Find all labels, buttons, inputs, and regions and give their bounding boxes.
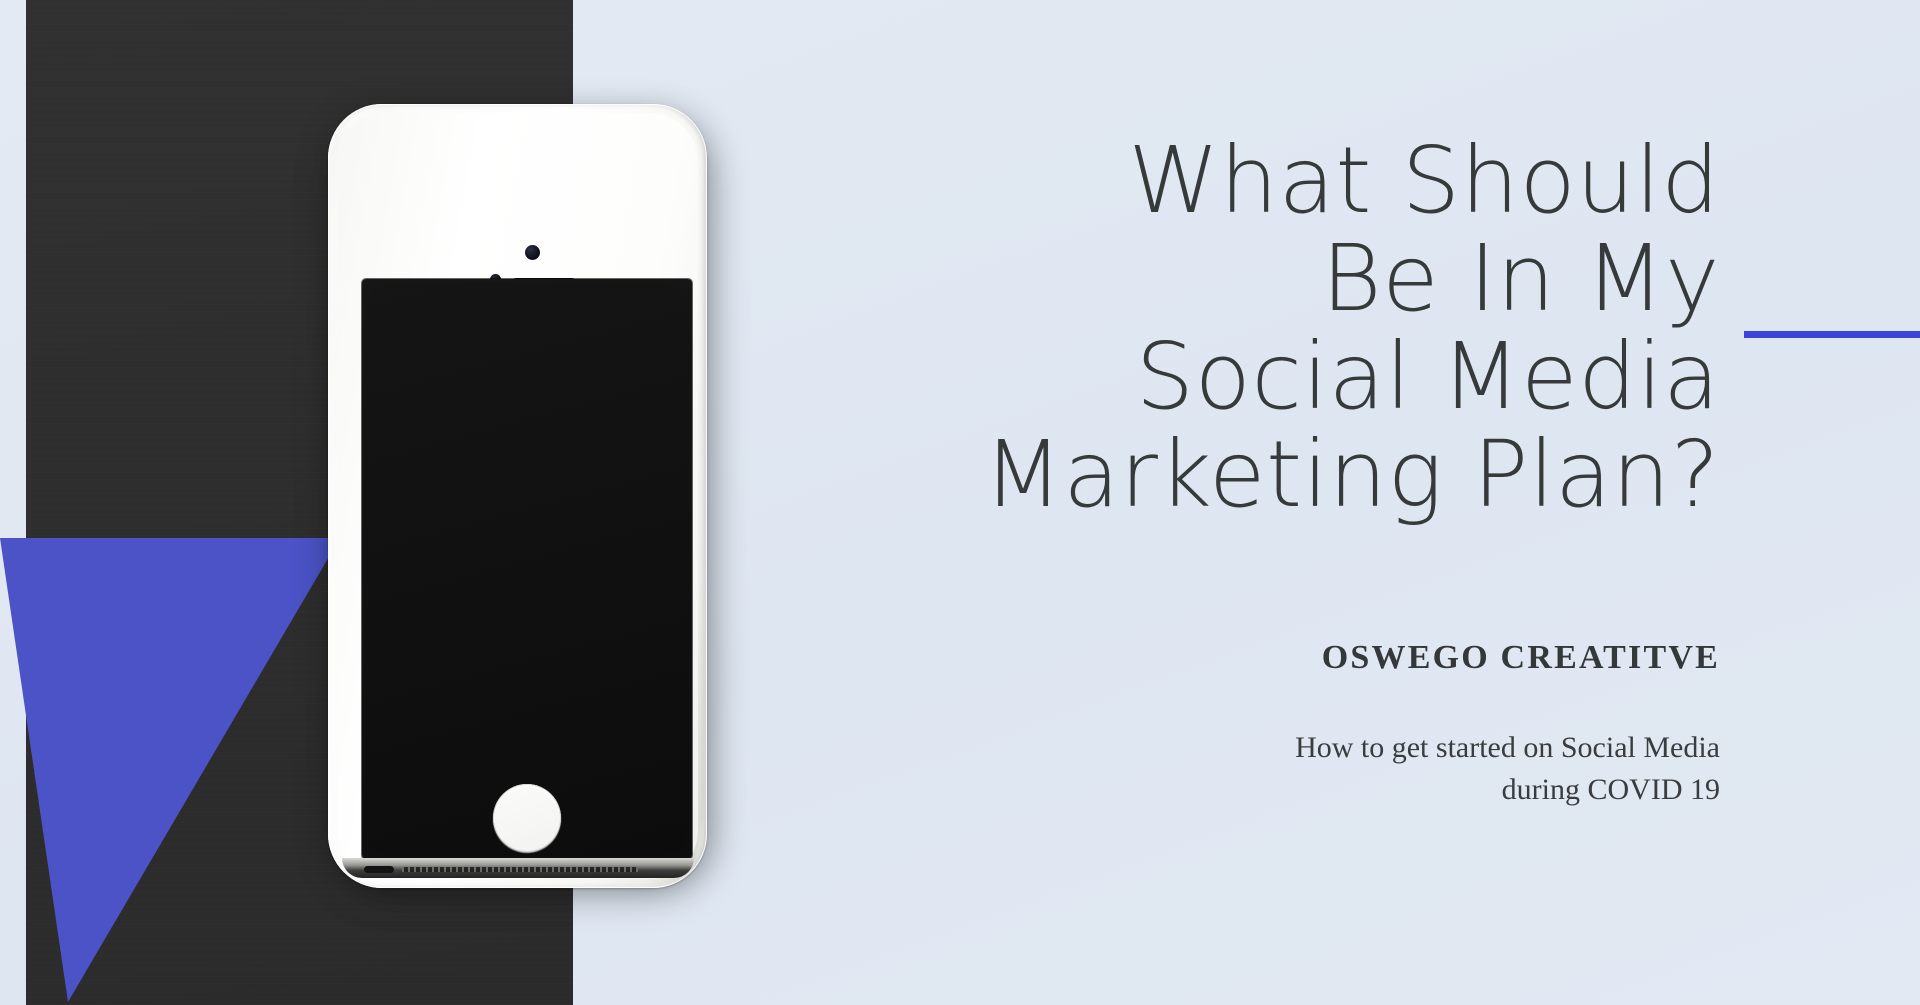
blue-down-triangle-icon [0,538,340,1005]
slide-headline: What Should Be In My Social Media Market… [640,132,1720,524]
tagline-line-1: How to get started on Social Media [640,727,1720,769]
slide-tagline: How to get started on Social Media durin… [640,727,1720,811]
lightning-port-icon [364,866,394,873]
brand-name: OSWEGO CREATITVE [640,639,1720,677]
blue-horizontal-rule [1744,331,1920,338]
home-button-icon [493,784,561,852]
headline-line-3: Social Media [640,328,1720,426]
headline-line-4: Marketing Plan? [640,426,1720,524]
speaker-grill-icon [402,867,638,872]
presentation-slide: What Should Be In My Social Media Market… [0,0,1920,1005]
headline-line-1: What Should [640,132,1720,230]
front-camera-icon [525,245,540,260]
slide-text-column: What Should Be In My Social Media Market… [640,0,1720,1005]
headline-line-2: Be In My [640,230,1720,328]
tagline-line-2: during COVID 19 [640,769,1720,811]
